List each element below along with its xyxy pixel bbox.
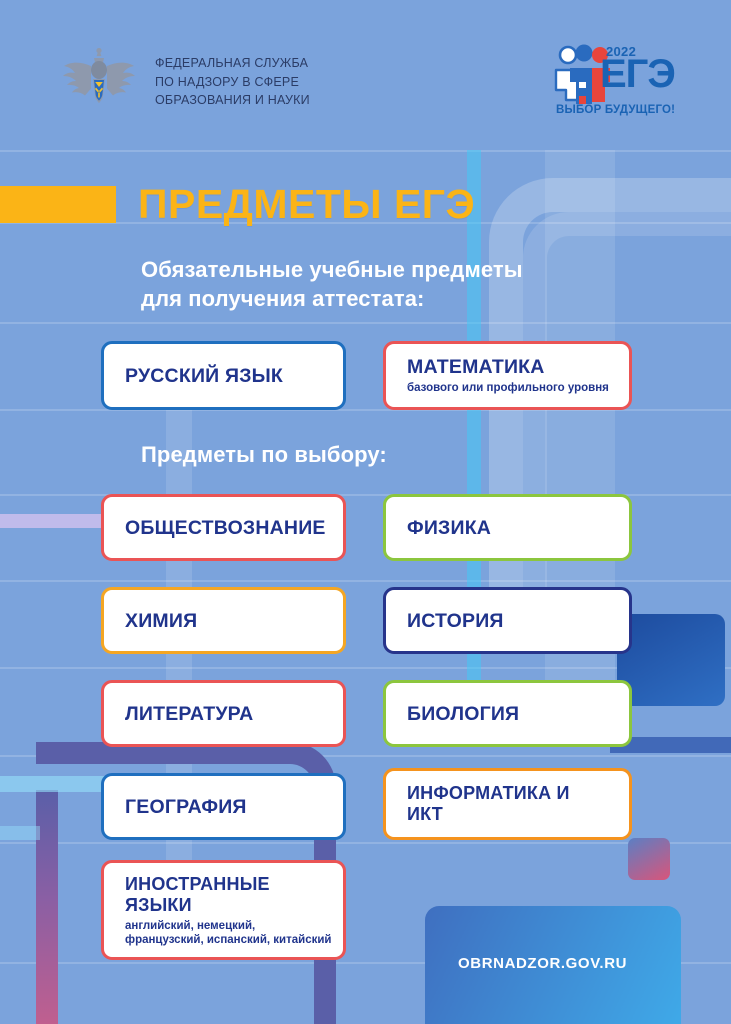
subject-name: МАТЕМАТИКА xyxy=(407,356,619,378)
subject-subtitle: английский, немецкий, французский, испан… xyxy=(125,919,333,947)
subject-card-russian[interactable]: РУССКИЙ ЯЗЫК xyxy=(101,341,346,410)
subject-name: ЛИТЕРАТУРА xyxy=(125,703,333,725)
subject-card-history[interactable]: ИСТОРИЯ xyxy=(383,587,632,654)
title-accent-bar xyxy=(0,186,116,223)
required-subjects-heading: Обязательные учебные предметы для получе… xyxy=(141,255,523,313)
subject-name: ИНОСТРАННЫЕ ЯЗЫКИ xyxy=(125,874,295,916)
rosobrnadzor-eagle-emblem-icon xyxy=(60,42,138,114)
background-cyan-band xyxy=(0,826,40,840)
subject-name: ОБЩЕСТВОЗНАНИЕ xyxy=(125,517,333,539)
subject-name: ИНФОРМАТИКА И ИКТ xyxy=(407,783,582,825)
background-blue-rounded-rect xyxy=(617,614,725,706)
subject-name: ХИМИЯ xyxy=(125,610,333,632)
subject-card-chemistry[interactable]: ХИМИЯ xyxy=(101,587,346,654)
subject-name: БИОЛОГИЯ xyxy=(407,703,619,725)
subject-card-informatics[interactable]: ИНФОРМАТИКА И ИКТ xyxy=(383,768,632,840)
optional-heading-text: Предметы по выбору: xyxy=(141,440,387,469)
background-hline xyxy=(0,150,731,152)
page-title: ПРЕДМЕТЫ ЕГЭ xyxy=(138,178,475,230)
poster-header: ФЕДЕРАЛЬНАЯ СЛУЖБА ПО НАДЗОРУ В СФЕРЕ ОБ… xyxy=(0,0,731,150)
background-hline xyxy=(0,322,731,324)
subject-card-social-studies[interactable]: ОБЩЕСТВОЗНАНИЕ xyxy=(101,494,346,561)
organization-line: ПО НАДЗОРУ В СФЕРЕ xyxy=(155,73,310,92)
background-lilac-band xyxy=(0,514,110,528)
ege-logo-name: ЕГЭ xyxy=(600,54,675,94)
ege-logo-slogan: ВЫБОР БУДУЩЕГО! xyxy=(556,104,675,116)
subject-card-physics[interactable]: ФИЗИКА xyxy=(383,494,632,561)
subject-card-literature[interactable]: ЛИТЕРАТУРА xyxy=(101,680,346,747)
subject-name: ФИЗИКА xyxy=(407,517,619,539)
background-pink-rounded-rect xyxy=(628,838,670,880)
background-hline xyxy=(0,842,731,844)
subject-subtitle: базового или профильного уровня xyxy=(407,381,619,395)
subject-card-foreign-languages[interactable]: ИНОСТРАННЫЕ ЯЗЫКИ английский, немецкий, … xyxy=(101,860,346,960)
optional-subjects-heading: Предметы по выбору: xyxy=(141,440,387,469)
subject-card-mathematics[interactable]: МАТЕМАТИКА базового или профильного уров… xyxy=(383,341,632,410)
background-hline xyxy=(0,755,731,757)
subject-card-biology[interactable]: БИОЛОГИЯ xyxy=(383,680,632,747)
ege-subjects-poster: ФЕДЕРАЛЬНАЯ СЛУЖБА ПО НАДЗОРУ В СФЕРЕ ОБ… xyxy=(0,0,731,1024)
organization-name: ФЕДЕРАЛЬНАЯ СЛУЖБА ПО НАДЗОРУ В СФЕРЕ ОБ… xyxy=(155,54,310,110)
background-hline xyxy=(0,667,731,669)
required-heading-line2: для получения аттестата: xyxy=(141,284,523,313)
subject-name: РУССКИЙ ЯЗЫК xyxy=(125,365,333,387)
required-heading-line1: Обязательные учебные предметы xyxy=(141,255,523,284)
background-hline xyxy=(0,580,731,582)
subject-name: ИСТОРИЯ xyxy=(407,610,619,632)
subject-card-geography[interactable]: ГЕОГРАФИЯ xyxy=(101,773,346,840)
website-url[interactable]: OBRNADZOR.GOV.RU xyxy=(458,955,627,972)
subject-name: ГЕОГРАФИЯ xyxy=(125,796,333,818)
organization-line: ОБРАЗОВАНИЯ И НАУКИ xyxy=(155,91,310,110)
organization-line: ФЕДЕРАЛЬНАЯ СЛУЖБА xyxy=(155,54,310,73)
background-pipe-purple-gradient xyxy=(36,790,58,1024)
